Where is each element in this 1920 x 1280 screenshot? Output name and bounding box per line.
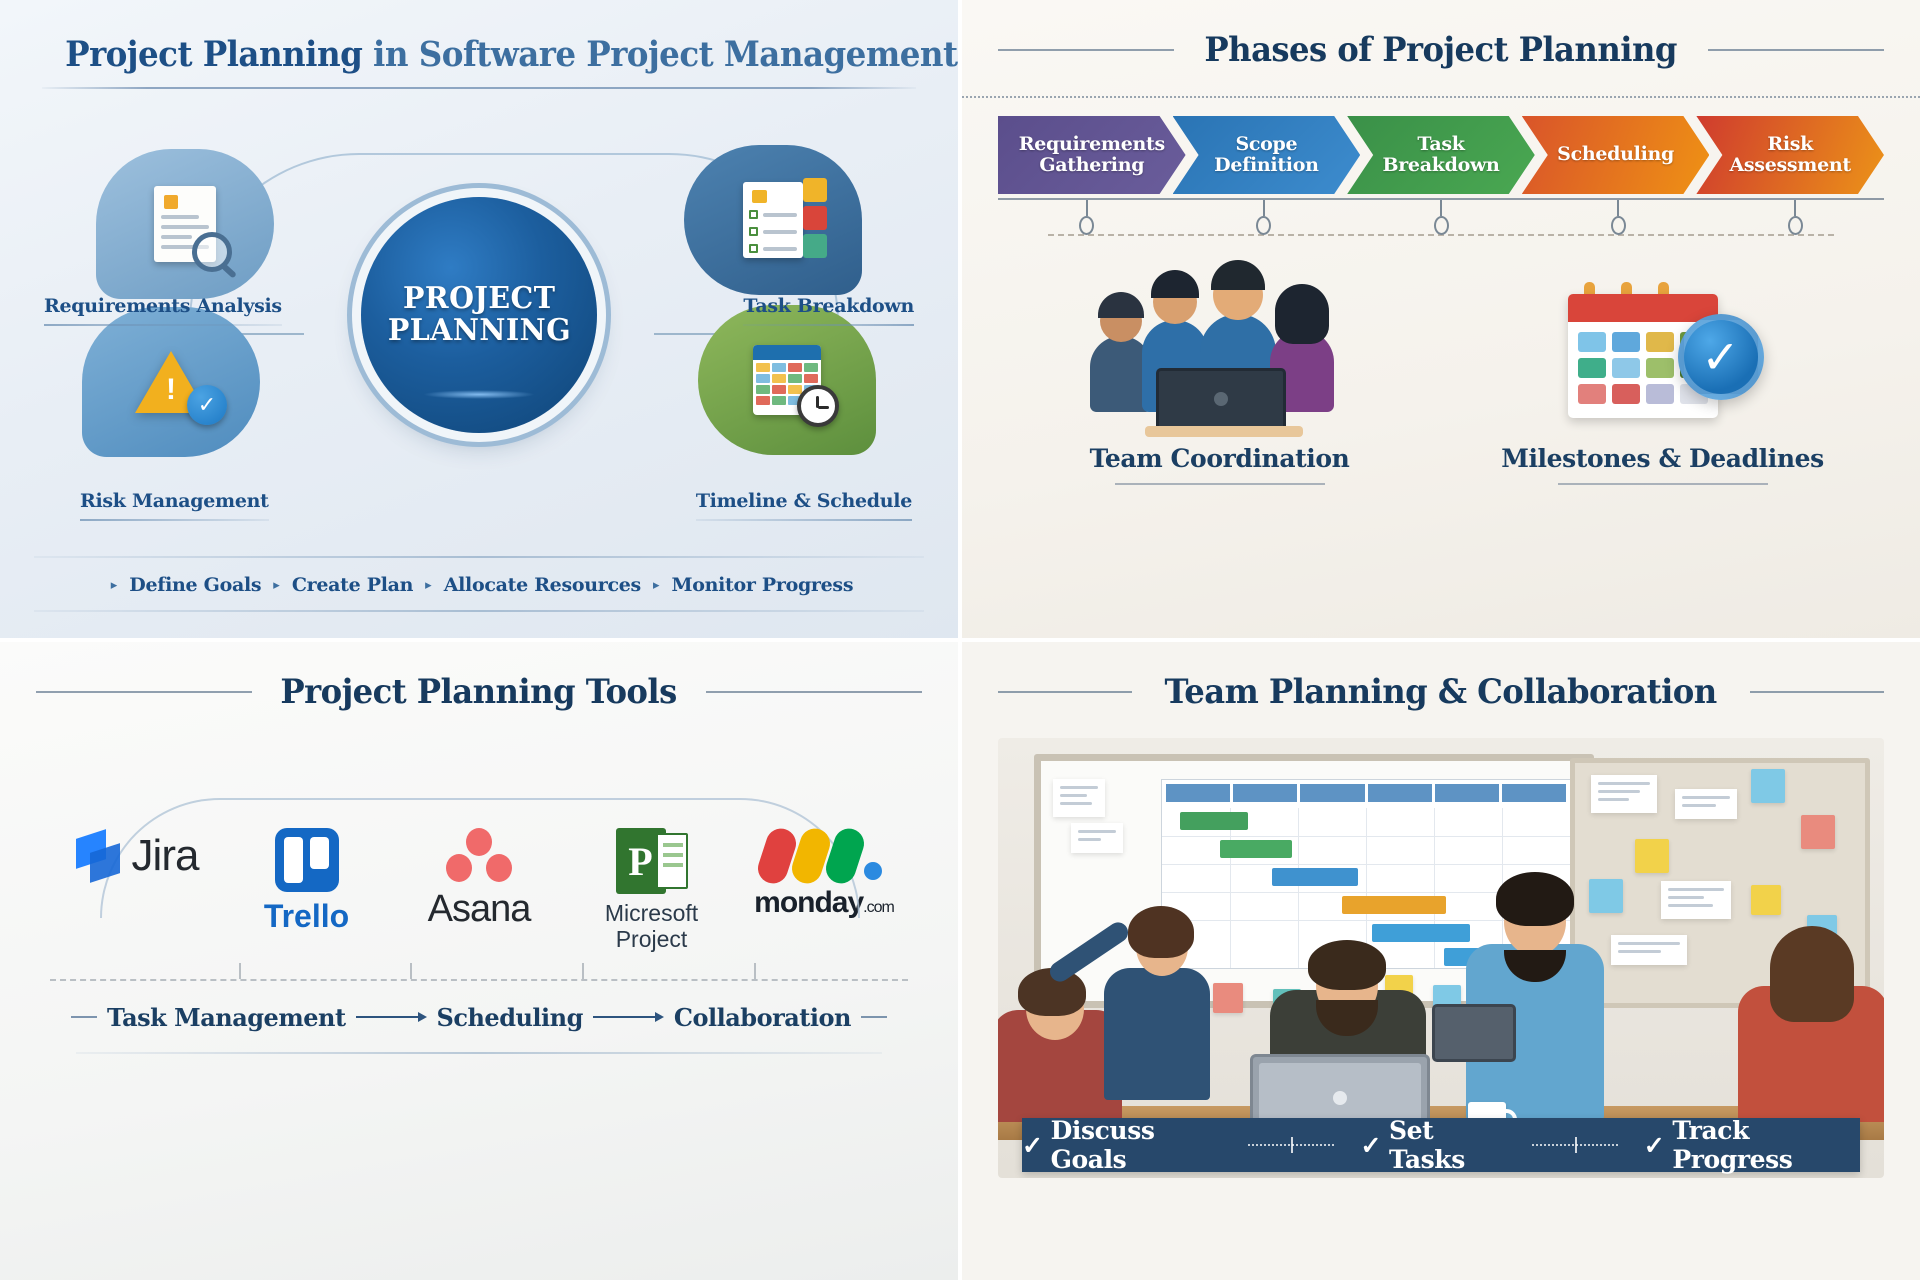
feature-caption-team-coordination: Team Coordination [1090,444,1350,473]
whiteboard-note-paper-2 [1071,823,1123,853]
document-magnifier-icon [154,186,216,262]
panel2-rule-left [998,49,1174,51]
timeline-marker-3 [1530,200,1707,248]
panel1-steps-footer: ▸ Define Goals ▸ Create Plan ▸ Allocate … [34,556,924,612]
check-icon-2: ✓ [1644,1131,1665,1160]
hub-line-1: PROJECT [403,283,555,315]
gantt-bar-2 [1220,840,1292,858]
person-standing-pointing [1094,890,1224,1100]
checklist-item-set-tasks: ✓ Set Tasks [1360,1116,1505,1174]
panel1-title-strong: Project Planning [65,34,362,75]
phase-1-line2: Definition [1214,155,1318,176]
feature-caption-milestones-deadlines: Milestones & Deadlines [1501,444,1824,473]
flow-task-management: Task Management [107,1003,345,1032]
team-meeting-illustration: ✓ Discuss Goals ✓ Set Tasks ✓ Track Prog… [998,738,1884,1178]
panel-phases-of-project-planning: Phases of Project Planning RequirementsG… [960,0,1920,640]
panel2-rule-right [1708,49,1884,51]
step-marker-icon-0: ▸ [105,577,124,593]
panel3-rule-right [706,691,922,693]
monday-suffix: .com [863,899,894,916]
panel3-header: Project Planning Tools [36,672,922,712]
checklist-separator-1 [1248,1144,1334,1146]
checklist-label-1: Set Tasks [1389,1116,1506,1174]
infographic-grid: Project Planning in Software Project Man… [0,0,1920,1280]
panel-project-planning-overview: Project Planning in Software Project Man… [0,0,960,640]
checklist-tiles-icon [743,182,803,258]
cork-paper-4 [1611,935,1687,965]
jira-mark-icon [70,828,126,884]
panel1-hub-diagram: ✓ [34,93,924,473]
node-label-requirements-analysis: Requirements Analysis [44,295,282,317]
panel4-header: Team Planning & Collaboration [998,672,1884,712]
phase-4-line1: Risk [1729,134,1850,155]
phase-chevron-task-breakdown: TaskBreakdown [1347,116,1535,194]
check-icon-0: ✓ [1022,1131,1043,1160]
cork-sticky-3 [1635,839,1669,873]
timeline-marker-4 [1707,200,1884,248]
step-marker-icon-2: ▸ [419,577,438,593]
step-allocate-resources: Allocate Resources [444,574,641,596]
panel1-title-rule [42,87,916,89]
node-label-timeline-schedule: Timeline & Schedule [696,490,912,512]
cork-sticky-5 [1751,885,1781,915]
node-label-task-breakdown: Task Breakdown [743,295,914,317]
asana-logo-icon [440,828,518,882]
step-marker-icon-3: ▸ [647,577,666,593]
check-icon-1: ✓ [1360,1131,1381,1160]
team-laptop-icon [1080,262,1360,430]
feature-team-coordination: Team Coordination [998,262,1441,485]
phase-0-line2: Gathering [1019,155,1165,176]
ms-name-line-2: Project [605,926,698,952]
phase-chevron-risk-assessment: RiskAssessment [1696,116,1884,194]
person-standing-tablet [1454,854,1614,1120]
panel1-title-rest: in Software Project Management [362,34,957,75]
cork-sticky-2 [1801,815,1835,849]
panel1-title: Project Planning in Software Project Man… [65,34,893,75]
flow-edge-right [861,1016,887,1018]
step-define-goals: Define Goals [129,574,261,596]
timeline-marker-2 [1352,200,1529,248]
cork-paper-3 [1661,881,1731,919]
checklist-separator-2 [1532,1144,1618,1146]
feature-caption-rule-1 [1558,483,1768,485]
calendar-check-icon: ✓ [1568,262,1758,430]
panel1-step-list: ▸ Define Goals ▸ Create Plan ▸ Allocate … [34,558,924,610]
checklist-label-2: Track Progress [1672,1116,1860,1174]
tools-flow-row: Task Management Scheduling Collaboration [36,1003,922,1032]
gantt-bar-3 [1272,868,1358,886]
phase-2-line1: Task [1382,134,1499,155]
phase-timeline-markers [998,200,1884,248]
collaboration-checklist-bar: ✓ Discuss Goals ✓ Set Tasks ✓ Track Prog… [1022,1118,1860,1172]
phase-2-line2: Breakdown [1382,155,1499,176]
checklist-item-discuss-goals: ✓ Discuss Goals [1022,1116,1222,1174]
feature-caption-rule-0 [1115,483,1325,485]
gantt-bar-4 [1342,896,1446,914]
feature-milestones-deadlines: ✓ Milestones & Deadlines [1441,262,1884,485]
cork-paper-1 [1591,775,1657,813]
step-marker-icon-1: ▸ [267,577,286,593]
hub-line-2: PLANNING [387,315,570,347]
timeline-marker-0 [998,200,1175,248]
hub-project-planning: PROJECT PLANNING [361,197,597,433]
node-bubble-risk-management: ✓ [82,307,260,457]
phase-0-line1: Requirements [1019,134,1165,155]
phase-chevron-requirements-gathering: RequirementsGathering [998,116,1186,194]
node-bubble-task-breakdown [684,145,862,295]
node-bubble-timeline-schedule [698,305,876,455]
panel4-rule-right [1750,691,1884,693]
flow-collaboration: Collaboration [674,1003,851,1032]
panel1-footer-rule-bottom [34,610,924,612]
flow-arrow-1-icon [356,1012,427,1022]
node-label-risk-management: Risk Management [80,490,269,512]
step-create-plan: Create Plan [292,574,413,596]
panel3-title: Project Planning Tools [281,672,677,712]
checklist-item-track-progress: ✓ Track Progress [1644,1116,1860,1174]
team-laptop [1156,368,1286,430]
calendar-clock-icon [753,345,821,415]
panel3-base-rule [76,1052,882,1054]
step-monitor-progress: Monitor Progress [671,574,853,596]
feature-divider-line [962,96,1920,98]
warning-triangle-check-icon: ✓ [135,351,207,413]
cork-sticky-1 [1751,769,1785,803]
cork-paper-2 [1675,789,1737,819]
phase-3-line1: Scheduling [1557,144,1674,165]
flow-arrow-2-icon [593,1012,664,1022]
calendar-check-badge: ✓ [1678,314,1764,400]
checklist-label-0: Discuss Goals [1051,1116,1223,1174]
panel2-title: Phases of Project Planning [1205,30,1677,70]
phase-1-line1: Scope [1214,134,1318,155]
panel3-rule-left [36,691,252,693]
gantt-bar-1 [1180,812,1248,830]
node-bubble-requirements-analysis [96,149,274,299]
phase-chevron-scheduling: Scheduling [1522,116,1710,194]
flow-edge-left [71,1016,97,1018]
phase-4-line2: Assessment [1729,155,1850,176]
panel2-feature-row: Team Coordination [998,262,1884,485]
microsoft-project-logo-icon: P [616,828,688,894]
panel-project-planning-tools: Project Planning Tools Jira Trello Asana [0,640,960,1280]
panel4-rule-left [998,691,1132,693]
phase-chevron-scope-definition: ScopeDefinition [1173,116,1361,194]
panel2-header: Phases of Project Planning [998,30,1884,70]
flow-scheduling: Scheduling [437,1003,583,1032]
phase-chevron-row: RequirementsGathering ScopeDefinition Ta… [998,116,1884,194]
timeline-marker-1 [1175,200,1352,248]
tools-dashed-axis [50,979,908,981]
panel-team-planning-collaboration: Team Planning & Collaboration [960,640,1920,1280]
person-right-seated [1738,922,1884,1122]
monday-logo-icon [760,828,888,884]
whiteboard-note-paper-1 [1053,779,1105,817]
panel4-title: Team Planning & Collaboration [1165,672,1717,712]
